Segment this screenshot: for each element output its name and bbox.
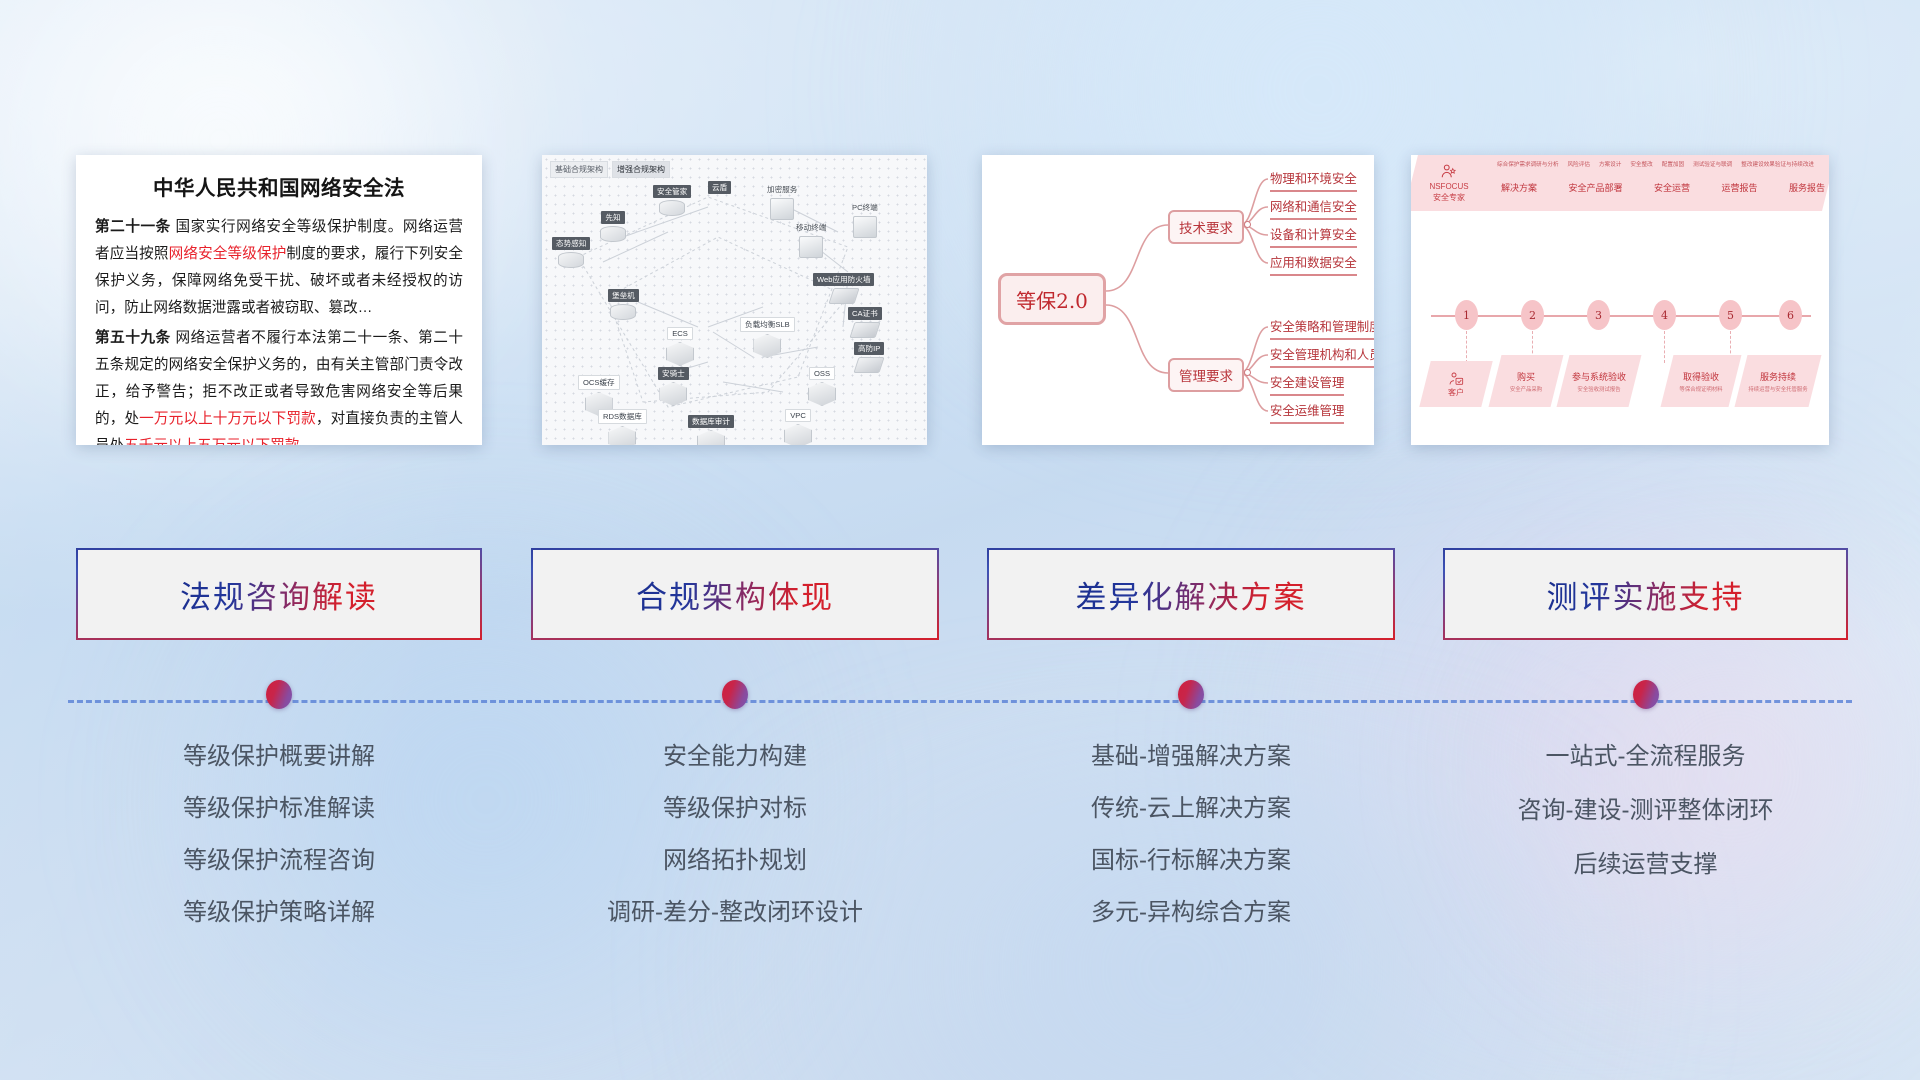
bullet-item: 传统-云上解决方案 <box>987 797 1395 821</box>
nsfocus-column-title: 运营报告 <box>1721 181 1757 194</box>
bottom-card-sub: 持续运营与安全托管服务 <box>1748 385 1807 393</box>
law-paragraph: 第二十一条 国家实行网络安全等级保护制度。网络运营者应当按照网络安全等级保护制度… <box>95 214 463 323</box>
timeline-axis <box>1431 315 1811 317</box>
arch-node-anti-ddos-ip[interactable]: 高防IP <box>854 342 884 373</box>
arch-node-label: 安骑士 <box>658 367 689 380</box>
arch-node-label: RDS数据库 <box>598 409 647 424</box>
nsfocus-brand: NSFOCUS <box>1429 182 1468 192</box>
timeline-tick <box>1466 331 1467 363</box>
nsfocus-column-title: 解决方案 <box>1501 181 1537 194</box>
arch-node-bastion-host[interactable]: 堡垒机 <box>608 289 639 320</box>
nsfocus-column-title: 服务报告 <box>1789 181 1825 194</box>
law-article-number: 第五十九条 <box>95 330 171 346</box>
arch-node-label: Web应用防火墙 <box>813 273 874 286</box>
arch-node-situation-awareness[interactable]: 态势感知 <box>552 237 590 268</box>
timeline-step[interactable]: 3 <box>1587 300 1610 330</box>
timeline-node-1[interactable] <box>266 680 292 709</box>
arch-node-label: 负载均衡SLB <box>740 317 795 332</box>
database-icon <box>558 252 584 268</box>
section-title-text: 合规架构体现 <box>636 572 834 617</box>
mindmap-leaf[interactable]: 安全策略和管理制度 <box>1270 317 1374 340</box>
law-run-highlight: 一万元以上十万元以下罚款 <box>139 411 316 427</box>
bullet-column-2: 安全能力构建 等级保护对标 网络拓扑规划 调研-差分-整改闭环设计 <box>531 745 939 953</box>
nsfocus-top-label: 方案设计 <box>1599 160 1621 168</box>
mindmap-leaf[interactable]: 网络和通信安全 <box>1270 197 1357 220</box>
architecture-diagram: 基础合规架构 增强合规架构 <box>542 155 927 445</box>
database-icon <box>659 200 685 216</box>
bottom-card[interactable]: 取得验收 等保合规证明材料 <box>1661 355 1742 407</box>
bullet-item: 等级保护对标 <box>531 797 939 821</box>
mindmap-leaf[interactable]: 应用和数据安全 <box>1270 253 1357 276</box>
section-title-inner: 差异化解决方案 <box>989 550 1393 638</box>
arch-node-label: CA证书 <box>848 307 882 320</box>
mindmap-branch-management[interactable]: 管理要求 <box>1168 358 1244 392</box>
mobile-icon <box>799 236 823 258</box>
bullet-item: 调研-差分-整改闭环设计 <box>531 901 939 925</box>
timeline-dashed-line <box>68 700 1852 703</box>
nsfocus-top-label: 配置加固 <box>1662 160 1684 168</box>
law-run-highlight: 五千元以上五万元以下罚款。 <box>124 438 314 445</box>
arch-node-anqishi[interactable]: 安骑士 <box>658 367 689 406</box>
nsfocus-top-label: 综合保护需求调研与分析 <box>1497 160 1559 168</box>
section-title-inner: 合规架构体现 <box>533 550 937 638</box>
law-body: 中华人民共和国网络安全法 第二十一条 国家实行网络安全等级保护制度。网络运营者应… <box>76 155 482 445</box>
bullet-item: 后续运营支撑 <box>1443 853 1848 877</box>
arch-node-encryption-service[interactable]: 加密服务 <box>763 183 801 220</box>
arch-node-label: 数据库审计 <box>688 415 734 428</box>
mindmap-leaf[interactable]: 安全运维管理 <box>1270 401 1344 424</box>
arch-node-oss[interactable]: OSS <box>808 367 836 406</box>
section-title-text: 测评实施支持 <box>1547 572 1745 617</box>
tab-basic-compliance[interactable]: 基础合规架构 <box>550 161 608 178</box>
person-star-icon <box>1440 163 1458 181</box>
bottom-card-title: 取得验收 <box>1683 370 1719 383</box>
card-service-timeline[interactable]: NSFOCUS 安全专家 综合保护需求调研与分析 风险评估 方案设计 安全整改 … <box>1411 155 1829 445</box>
mindmap-root-node[interactable]: 等保2.0 <box>998 273 1106 325</box>
bottom-card-title: 购买 <box>1517 370 1535 383</box>
section-title-inner: 测评实施支持 <box>1445 550 1846 638</box>
bullet-columns: 等级保护概要讲解 等级保护标准解读 等级保护流程咨询 等级保护策略详解 安全能力… <box>0 745 1920 975</box>
bullet-item: 等级保护流程咨询 <box>76 849 482 873</box>
arch-node-label: OSS <box>809 367 835 380</box>
arch-node-security-butler[interactable]: 安全管家 <box>653 185 691 216</box>
audit-icon <box>697 430 725 445</box>
arch-node-label: 云盾 <box>708 181 731 194</box>
arch-node-label: OCS缓存 <box>578 375 620 390</box>
mindmap-node-dot <box>1244 221 1251 228</box>
desktop-icon <box>853 216 877 238</box>
timeline-step[interactable]: 5 <box>1719 300 1742 330</box>
nsfocus-top-labels: 综合保护需求调研与分析 风险评估 方案设计 安全整改 配置加固 测试验证与联调 … <box>1497 160 1825 168</box>
arch-node-xianzhi[interactable]: 先知 <box>600 211 626 242</box>
section-title-box-1[interactable]: 法规咨询解读 <box>76 548 482 640</box>
arch-node-ca-certificate[interactable]: CA证书 <box>848 307 882 338</box>
bullet-item: 基础-增强解决方案 <box>987 745 1395 769</box>
bullet-item: 等级保护概要讲解 <box>76 745 482 769</box>
arch-node-ecs[interactable]: ECS <box>666 327 694 366</box>
nsfocus-brand-sub: 安全专家 <box>1433 193 1465 203</box>
tab-enhanced-compliance[interactable]: 增强合规架构 <box>612 161 670 178</box>
timeline-node-3[interactable] <box>1178 680 1204 709</box>
database-icon <box>610 304 636 320</box>
mindmap-node-dot <box>1244 369 1251 376</box>
arch-node-rds[interactable]: RDS数据库 <box>598 409 647 445</box>
thumbnail-row: 中华人民共和国网络安全法 第二十一条 国家实行网络安全等级保护制度。网络运营者应… <box>0 0 1920 440</box>
arch-node-label: 态势感知 <box>552 237 590 250</box>
timeline-step[interactable]: 4 <box>1653 300 1676 330</box>
arch-node-slb[interactable]: 负载均衡SLB <box>740 317 795 358</box>
arch-node-label: PC终端 <box>848 201 882 214</box>
card-cloud-architecture[interactable]: 基础合规架构 增强合规架构 <box>542 155 927 445</box>
nsfocus-top-label: 测试验证与联调 <box>1693 160 1732 168</box>
compute-icon <box>666 342 694 366</box>
arch-node-label: 高防IP <box>854 342 884 355</box>
storage-icon <box>808 382 836 406</box>
server-icon <box>770 198 794 220</box>
bullet-item: 等级保护策略详解 <box>76 901 482 925</box>
arch-node-label: 安全管家 <box>653 185 691 198</box>
rds-icon <box>608 426 636 445</box>
arch-node-vpc[interactable]: VPC <box>784 409 812 445</box>
mindmap-leaf[interactable]: 设备和计算安全 <box>1270 225 1357 248</box>
bullet-column-1: 等级保护概要讲解 等级保护标准解读 等级保护流程咨询 等级保护策略详解 <box>76 745 482 953</box>
bottom-card-content: 取得验收 等保合规证明材料 <box>1667 355 1735 407</box>
arch-node-label: 先知 <box>601 211 624 224</box>
arch-node-label: 堡垒机 <box>608 289 639 302</box>
nsfocus-top-label: 安全整改 <box>1630 160 1652 168</box>
law-paragraph: 第五十九条 网络运营者不履行本法第二十一条、第二十五条规定的网络安全保护义务的，… <box>95 325 463 445</box>
loadbalancer-icon <box>753 334 781 358</box>
nsfocus-column-title: 安全产品部署 <box>1568 181 1622 194</box>
customer-badge-content: 客户 <box>1425 361 1487 407</box>
arch-node-label: ECS <box>667 327 693 340</box>
bottom-card-sub: 安全验收测试报告 <box>1577 385 1620 393</box>
bottom-card-sub: 等保合规证明材料 <box>1679 385 1722 393</box>
database-icon <box>600 226 626 242</box>
arch-node-db-audit[interactable]: 数据库审计 <box>688 415 734 445</box>
bullet-item: 国标-行标解决方案 <box>987 849 1395 873</box>
bottom-card[interactable]: 服务持续 持续运营与安全托管服务 <box>1735 355 1822 407</box>
bullet-item: 多元-异构综合方案 <box>987 901 1395 925</box>
nsfocus-expert-content: NSFOCUS 安全专家 <box>1411 155 1487 211</box>
timeline-step[interactable]: 1 <box>1455 300 1478 330</box>
nsfocus-top-label: 风险评估 <box>1568 160 1590 168</box>
law-article-number: 第二十一条 <box>95 219 171 235</box>
timeline-connector <box>0 690 1920 730</box>
architecture-canvas: 态势感知 先知 安全管家 堡垒机 加密服务 <box>548 177 921 439</box>
timeline-tick <box>1664 331 1665 363</box>
firewall-icon <box>828 288 859 304</box>
section-title-text: 法规咨询解读 <box>180 572 378 617</box>
timeline-step[interactable]: 6 <box>1779 300 1802 330</box>
mindmap-diagram: 等保2.0 技术要求 物理和环境安全 网络和通信安全 设备和计算安全 应用和数据… <box>982 155 1374 445</box>
mindmap-leaf[interactable]: 安全建设管理 <box>1270 373 1344 396</box>
bottom-card[interactable]: 参与系统验收 安全验收测试报告 <box>1557 355 1642 407</box>
mindmap-branch-technical[interactable]: 技术要求 <box>1168 210 1244 244</box>
person-check-icon <box>1448 371 1464 387</box>
bottom-card-content: 服务持续 持续运营与安全托管服务 <box>1741 355 1815 407</box>
law-run-highlight: 网络安全等级保护 <box>169 246 287 262</box>
timeline-node-4[interactable] <box>1633 680 1659 709</box>
bullet-item: 咨询-建设-测评整体闭环 <box>1443 799 1848 823</box>
section-title-row: 法规咨询解读 合规架构体现 差异化解决方案 测评实施支持 <box>0 548 1920 648</box>
bullet-column-4: 一站式-全流程服务 咨询-建设-测评整体闭环 后续运营支撑 <box>1443 745 1848 907</box>
bullet-item: 网络拓扑规划 <box>531 849 939 873</box>
mindmap-leaf[interactable]: 安全管理机构和人员 <box>1270 345 1374 368</box>
bullet-item: 安全能力构建 <box>531 745 939 769</box>
nsfocus-column-title: 安全运营 <box>1654 181 1690 194</box>
timeline-step[interactable]: 2 <box>1521 300 1544 330</box>
bottom-card-content: 购买 安全产品采购 <box>1495 355 1557 407</box>
section-title-box-4[interactable]: 测评实施支持 <box>1443 548 1848 640</box>
agent-icon <box>659 382 687 406</box>
nsfocus-column-titles: 解决方案 安全产品部署 安全运营 运营报告 服务报告 <box>1501 181 1825 194</box>
customer-label: 客户 <box>1448 388 1464 398</box>
bullet-column-3: 基础-增强解决方案 传统-云上解决方案 国标-行标解决方案 多元-异构综合方案 <box>987 745 1395 953</box>
bottom-card-title: 服务持续 <box>1760 370 1796 383</box>
section-title-text: 差异化解决方案 <box>1076 572 1307 617</box>
law-title: 中华人民共和国网络安全法 <box>95 171 463 201</box>
arch-node-waf[interactable]: Web应用防火墙 <box>813 273 874 304</box>
card-mindmap[interactable]: 等保2.0 技术要求 物理和环境安全 网络和通信安全 设备和计算安全 应用和数据… <box>982 155 1374 445</box>
arch-node-label: 加密服务 <box>763 183 801 196</box>
bottom-card-sub: 安全产品采购 <box>1510 385 1542 393</box>
certificate-icon <box>849 322 880 338</box>
bottom-card-title: 参与系统验收 <box>1572 370 1626 383</box>
bullet-item: 一站式-全流程服务 <box>1443 745 1848 769</box>
service-timeline-diagram: NSFOCUS 安全专家 综合保护需求调研与分析 风险评估 方案设计 安全整改 … <box>1411 155 1829 445</box>
timeline-node-2[interactable] <box>722 680 748 709</box>
shield-icon <box>854 357 885 373</box>
vpc-icon <box>784 424 812 445</box>
arch-node-pc-terminal[interactable]: PC终端 <box>848 201 882 238</box>
bullet-item: 等级保护标准解读 <box>76 797 482 821</box>
arch-node-label: 移动终端 <box>792 221 830 234</box>
section-title-box-2[interactable]: 合规架构体现 <box>531 548 939 640</box>
bottom-card[interactable]: 购买 安全产品采购 <box>1489 355 1564 407</box>
bottom-card-content: 参与系统验收 安全验收测试报告 <box>1563 355 1635 407</box>
arch-node-label: VPC <box>785 409 811 422</box>
section-title-box-3[interactable]: 差异化解决方案 <box>987 548 1395 640</box>
card-law-text[interactable]: 中华人民共和国网络安全法 第二十一条 国家实行网络安全等级保护制度。网络运营者应… <box>76 155 482 445</box>
arch-node-yundun[interactable]: 云盾 <box>708 181 731 194</box>
architecture-tab-bar[interactable]: 基础合规架构 增强合规架构 <box>550 161 670 178</box>
customer-badge: 客户 <box>1419 361 1492 407</box>
arch-node-mobile-terminal[interactable]: 移动终端 <box>792 221 830 258</box>
nsfocus-top-label: 整改建设效果验证与持续改进 <box>1741 160 1814 168</box>
mindmap-leaf[interactable]: 物理和环境安全 <box>1270 169 1357 192</box>
section-title-inner: 法规咨询解读 <box>78 550 480 638</box>
